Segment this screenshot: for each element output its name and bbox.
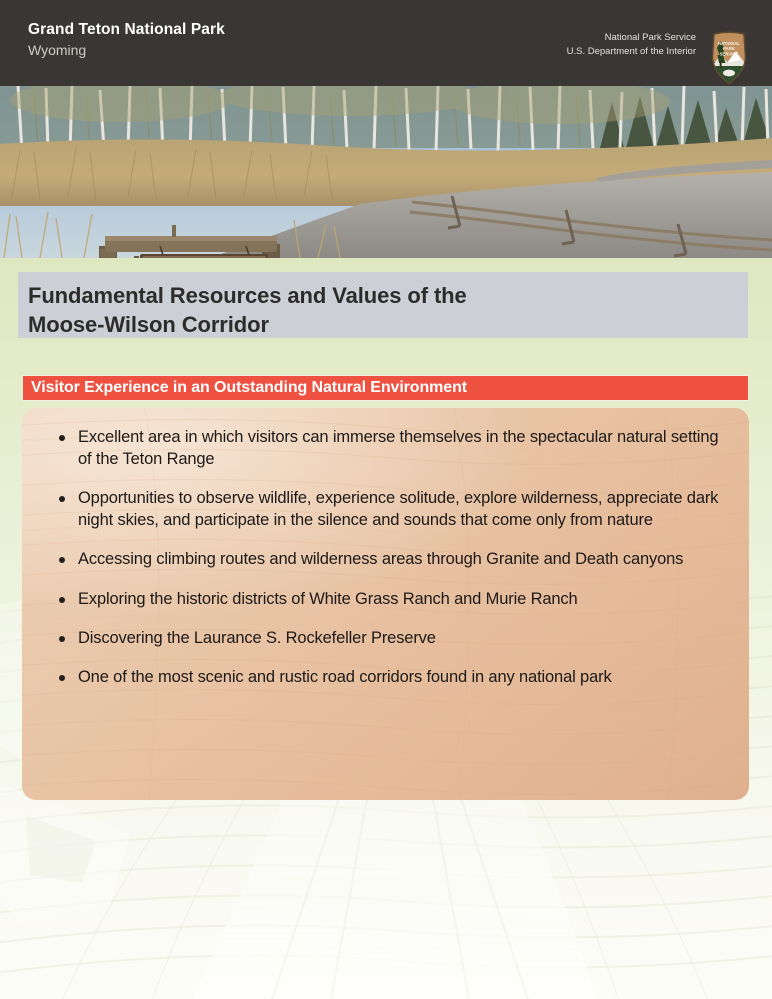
list-item-text: Accessing climbing routes and wilderness…: [78, 548, 683, 570]
bullet-dot-icon: [59, 435, 65, 441]
document-title-banner: Fundamental Resources and Values of the …: [18, 272, 748, 338]
fundamental-values-panel: Excellent area in which visitors can imm…: [22, 408, 749, 800]
document-page: Grand Teton National Park Wyoming Nation…: [0, 0, 772, 999]
nps-arrowhead-icon: NATIONAL PARK SERVICE: [708, 30, 750, 85]
title-line-2: Moose-Wilson Corridor: [28, 310, 748, 339]
list-item-text: One of the most scenic and rustic road c…: [78, 666, 612, 688]
agency-name-label: National Park Service: [567, 31, 696, 45]
bullet-list: Excellent area in which visitors can imm…: [48, 426, 723, 688]
list-item: Accessing climbing routes and wilderness…: [48, 548, 723, 570]
list-item: One of the most scenic and rustic road c…: [48, 666, 723, 688]
agency-identity: National Park Service U.S. Department of…: [567, 0, 772, 85]
bullet-dot-icon: [59, 557, 65, 563]
list-item-text: Excellent area in which visitors can imm…: [78, 426, 723, 470]
bullet-dot-icon: [59, 636, 65, 642]
list-item-text: Opportunities to observe wildlife, exper…: [78, 487, 723, 531]
list-item: Excellent area in which visitors can imm…: [48, 426, 723, 470]
nps-header-band: Grand Teton National Park Wyoming Nation…: [0, 0, 772, 86]
section-heading-bar: Visitor Experience in an Outstanding Nat…: [22, 375, 749, 401]
list-item: Discovering the Laurance S. Rockefeller …: [48, 627, 723, 649]
agency-department-label: U.S. Department of the Interior: [567, 45, 696, 59]
bullet-dot-icon: [59, 597, 65, 603]
bullet-dot-icon: [59, 675, 65, 681]
svg-text:SERVICE: SERVICE: [720, 51, 739, 56]
park-identity: Grand Teton National Park Wyoming: [0, 0, 225, 60]
park-state-label: Wyoming: [28, 41, 225, 59]
list-item-text: Discovering the Laurance S. Rockefeller …: [78, 627, 436, 649]
list-item: Exploring the historic districts of Whit…: [48, 588, 723, 610]
agency-text-block: National Park Service U.S. Department of…: [567, 30, 696, 59]
bullet-dot-icon: [59, 496, 65, 502]
list-item: Opportunities to observe wildlife, exper…: [48, 487, 723, 531]
granite-canyon-trailhead-photo: GRANITE CANYON TRAILHEAD: [0, 86, 772, 258]
list-item-text: Exploring the historic districts of Whit…: [78, 588, 578, 610]
page-title: Grand Teton National Park: [28, 20, 225, 39]
section-heading-label: Visitor Experience in an Outstanding Nat…: [31, 380, 467, 396]
title-line-1: Fundamental Resources and Values of the: [28, 281, 748, 310]
